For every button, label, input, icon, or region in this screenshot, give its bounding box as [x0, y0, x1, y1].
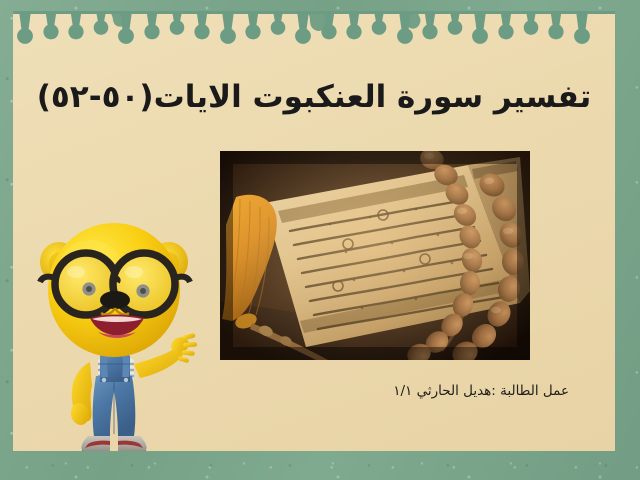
mascot-illustration [30, 214, 198, 451]
page-title: تفسير سورة العنكبوت الايات(٥٠-٥٢) [13, 79, 615, 115]
open-quran-photo [220, 151, 530, 360]
slide-stage: تفسير سورة العنكبوت الايات(٥٠-٥٢) [0, 0, 640, 480]
drip-border-svg [13, 11, 615, 45]
mascot-nose [100, 291, 130, 309]
mascot-left-shoe [81, 436, 110, 451]
hanging-drip-border [13, 11, 615, 45]
slide-card: تفسير سورة العنكبوت الايات(٥٠-٥٢) [13, 11, 615, 451]
mascot-right-shoe [118, 436, 147, 451]
student-credit: عمل الطالبة :هديل الحارثي ١/١ [393, 383, 569, 399]
yellow-bear-mascot [30, 214, 198, 451]
quran-illustration [220, 151, 530, 360]
